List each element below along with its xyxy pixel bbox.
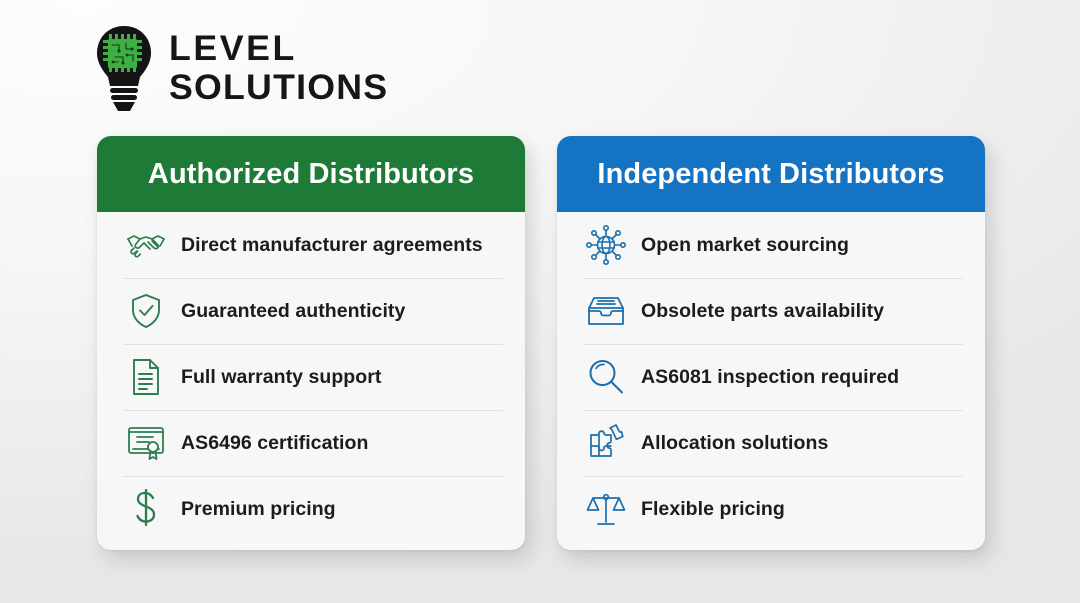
list-item-label: Allocation solutions xyxy=(641,432,828,455)
card-header-authorized: Authorized Distributors xyxy=(97,136,525,212)
balance-scale-icon xyxy=(583,488,629,530)
list-item-label: Guaranteed authenticity xyxy=(181,300,405,323)
list-item-label: Flexible pricing xyxy=(641,498,785,521)
list-item-label: Direct manufacturer agreements xyxy=(181,234,483,257)
list-item-label: AS6081 inspection required xyxy=(641,366,899,389)
dollar-sign-icon xyxy=(123,488,169,530)
magnifier-icon xyxy=(583,356,629,398)
list-item: Flexible pricing xyxy=(557,476,985,542)
list-item-label: Obsolete parts availability xyxy=(641,300,884,323)
list-item-label: Full warranty support xyxy=(181,366,381,389)
brand-logo: LEVEL SOLUTIONS xyxy=(93,24,384,112)
card-header-independent: Independent Distributors xyxy=(557,136,985,212)
lightbulb-microchip-icon xyxy=(93,24,155,112)
list-item: Guaranteed authenticity xyxy=(97,278,525,344)
brand-line-1: LEVEL xyxy=(169,32,388,65)
card-title: Independent Distributors xyxy=(597,158,944,191)
brand-wordmark: LEVEL SOLUTIONS xyxy=(169,32,384,104)
list-item: Direct manufacturer agreements xyxy=(97,212,525,278)
card-authorized-distributors: Authorized Distributors Direct manufactu… xyxy=(97,136,525,550)
document-icon xyxy=(123,356,169,398)
puzzle-pieces-icon xyxy=(583,422,629,464)
card-body-independent: Open market sourcing Obsolete parts avai… xyxy=(557,212,985,550)
comparison-cards: Authorized Distributors Direct manufactu… xyxy=(97,136,985,550)
globe-network-icon xyxy=(583,224,629,266)
list-item: Obsolete parts availability xyxy=(557,278,985,344)
list-item: Open market sourcing xyxy=(557,212,985,278)
list-item: AS6081 inspection required xyxy=(557,344,985,410)
list-item-label: Open market sourcing xyxy=(641,234,849,257)
list-item: Allocation solutions xyxy=(557,410,985,476)
list-item: Premium pricing xyxy=(97,476,525,542)
card-independent-distributors: Independent Distributors xyxy=(557,136,985,550)
list-item: Full warranty support xyxy=(97,344,525,410)
list-item: AS6496 certification xyxy=(97,410,525,476)
brand-line-2: SOLUTIONS xyxy=(169,71,388,104)
card-body-authorized: Direct manufacturer agreements Guarantee… xyxy=(97,212,525,550)
shield-check-icon xyxy=(123,290,169,332)
list-item-label: Premium pricing xyxy=(181,498,336,521)
handshake-icon xyxy=(123,224,169,266)
card-title: Authorized Distributors xyxy=(148,158,474,191)
certificate-icon xyxy=(123,422,169,464)
file-tray-icon xyxy=(583,290,629,332)
list-item-label: AS6496 certification xyxy=(181,432,368,455)
